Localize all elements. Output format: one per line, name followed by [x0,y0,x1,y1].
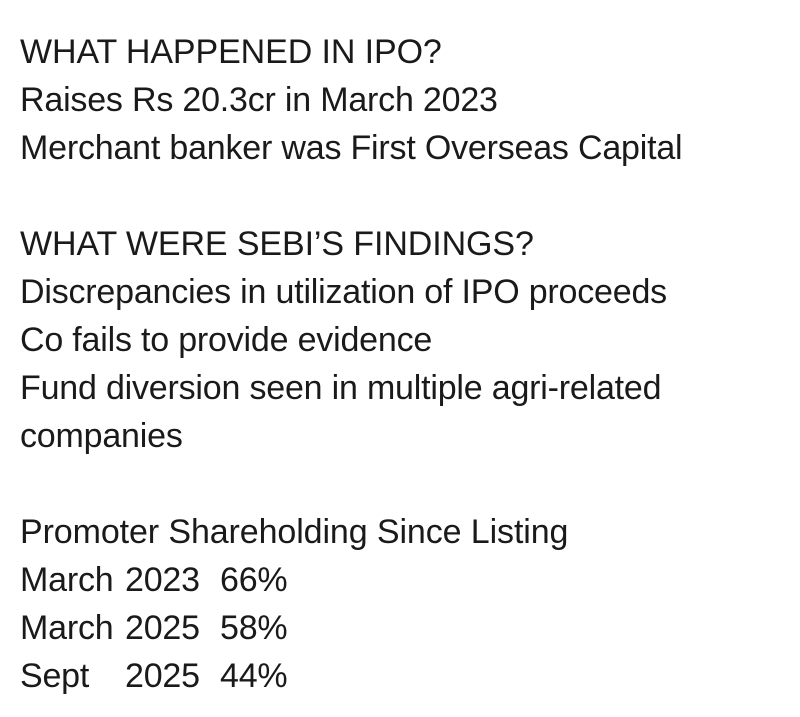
shareholding-percent: 66% [220,556,287,604]
shareholding-year: 2023 [125,556,220,604]
shareholding-year: 2025 [125,652,220,700]
shareholding-period: Sept [20,652,125,700]
sebi-block-heading: WHAT WERE SEBI’S FINDINGS? [20,220,800,268]
sebi-block-line-2: Co fails to provide evidence [20,316,800,364]
table-row: March 2025 58% [20,604,800,652]
sebi-block-line-3: Fund diversion seen in multiple agri-rel… [20,364,720,460]
ipo-block-line-2: Merchant banker was First Overseas Capit… [20,124,800,172]
table-row: March 2023 66% [20,556,800,604]
table-row: Sept 2025 44% [20,652,800,700]
ipo-block-heading: WHAT HAPPENED IN IPO? [20,28,800,76]
promoter-shareholding-heading: Promoter Shareholding Since Listing [20,508,800,556]
document-page: WHAT HAPPENED IN IPO? Raises Rs 20.3cr i… [0,0,800,717]
shareholding-period: March [20,556,125,604]
promoter-shareholding-block: Promoter Shareholding Since Listing Marc… [20,508,800,700]
sebi-block-line-1: Discrepancies in utilization of IPO proc… [20,268,800,316]
shareholding-percent: 44% [220,652,287,700]
shareholding-period: March [20,604,125,652]
ipo-block: WHAT HAPPENED IN IPO? Raises Rs 20.3cr i… [20,28,800,172]
sebi-block: WHAT WERE SEBI’S FINDINGS? Discrepancies… [20,220,800,460]
shareholding-year: 2025 [125,604,220,652]
shareholding-percent: 58% [220,604,287,652]
ipo-block-line-1: Raises Rs 20.3cr in March 2023 [20,76,800,124]
